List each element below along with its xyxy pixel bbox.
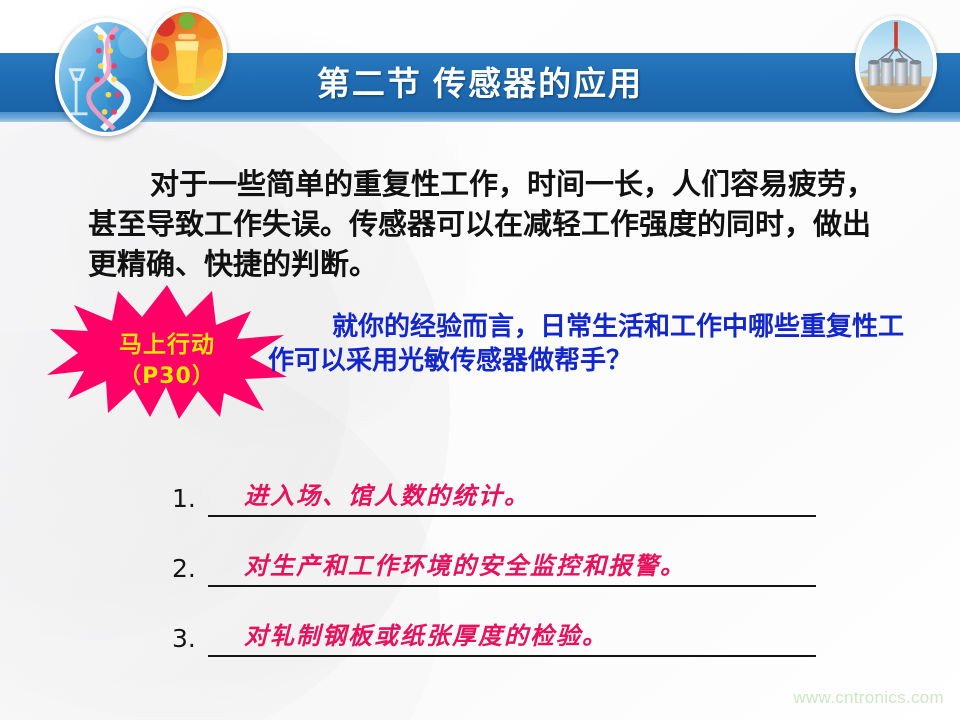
action-starburst-badge — [46, 283, 288, 419]
list-item: 1. 进入场、馆人数的统计。 — [172, 447, 832, 517]
discussion-question: 就你的经验而言，日常生活和工作中哪些重复性工作可以采用光敏传感器做帮手？ — [268, 310, 928, 378]
answer-text: 进入场、馆人数的统计。 — [244, 476, 530, 511]
answer-number: 2. — [172, 554, 196, 583]
answer-blank-line — [208, 655, 816, 657]
slide-canvas: 第二节 传感器的应用 对于一些简单的重复性工作，时间一长，人们容易疲劳，甚至导致… — [0, 0, 960, 720]
starburst-shape — [47, 285, 287, 419]
intro-paragraph: 对于一些简单的重复性工作，时间一长，人们容易疲劳，甚至导致工作失误。传感器可以在… — [88, 164, 888, 284]
list-item: 2. 对生产和工作环境的安全监控和报警。 — [172, 517, 832, 587]
page-title: 第二节 传感器的应用 — [0, 60, 960, 108]
answer-text: 对生产和工作环境的安全监控和报警。 — [244, 546, 686, 581]
list-item: 3. 对轧制钢板或纸张厚度的检验。 — [172, 587, 832, 657]
answer-text: 对轧制钢板或纸张厚度的检验。 — [244, 616, 608, 651]
answer-number: 1. — [172, 484, 196, 513]
answer-list: 1. 进入场、馆人数的统计。 2. 对生产和工作环境的安全监控和报警。 3. 对… — [172, 447, 832, 657]
site-watermark: www.cntronics.com — [793, 688, 944, 708]
answer-number: 3. — [172, 624, 196, 653]
